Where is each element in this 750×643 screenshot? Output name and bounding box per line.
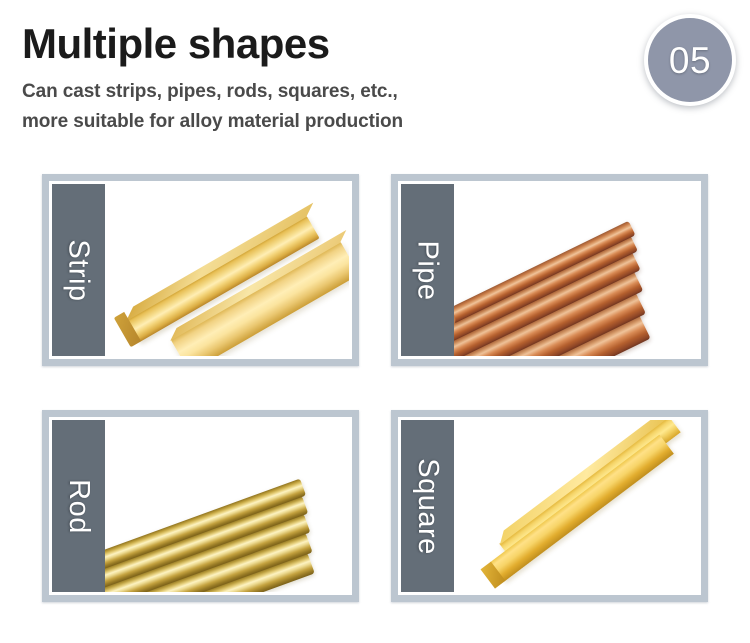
square-bar-lower (490, 435, 674, 582)
gold-square-bar-pair (454, 420, 698, 592)
card-inner: Rod (49, 417, 352, 595)
copper-pipe-stack (454, 184, 698, 356)
shape-card-rod[interactable]: Rod (42, 410, 359, 602)
card-label-bar-rod: Rod (52, 420, 105, 592)
slide-root: Multiple shapes Can cast strips, pipes, … (0, 0, 750, 643)
step-number-badge: 05 (644, 14, 736, 106)
card-label-square: Square (413, 458, 442, 555)
pipe-opening-4 (454, 341, 456, 356)
brass-rods-photo (105, 420, 349, 592)
card-label-bar-pipe: Pipe (401, 184, 454, 356)
gold-square-bars-photo (454, 420, 698, 592)
card-inner: Pipe (398, 181, 701, 359)
shape-card-grid: Strip Pipe (42, 174, 708, 602)
card-inner: Strip (49, 181, 352, 359)
card-inner: Square (398, 417, 701, 595)
brass-strip-bars-photo (105, 184, 349, 356)
page-title: Multiple shapes (22, 22, 622, 66)
shape-card-square[interactable]: Square (391, 410, 708, 602)
badge-number: 05 (669, 42, 711, 79)
card-label-rod: Rod (64, 479, 93, 534)
subtitle-line-2: more suitable for alloy material product… (22, 107, 622, 137)
shape-card-strip[interactable]: Strip (42, 174, 359, 366)
card-label-strip: Strip (64, 239, 93, 301)
brass-rod-bundle (105, 420, 349, 592)
card-label-pipe: Pipe (413, 240, 442, 300)
shape-card-pipe[interactable]: Pipe (391, 174, 708, 366)
subtitle-line-1: Can cast strips, pipes, rods, squares, e… (22, 77, 622, 107)
card-label-bar-square: Square (401, 420, 454, 592)
copper-pipes-photo (454, 184, 698, 356)
badge-circle: 05 (644, 14, 736, 106)
card-label-bar-strip: Strip (52, 184, 105, 356)
header-block: Multiple shapes Can cast strips, pipes, … (22, 22, 622, 137)
page-subtitle: Can cast strips, pipes, rods, squares, e… (22, 77, 622, 137)
